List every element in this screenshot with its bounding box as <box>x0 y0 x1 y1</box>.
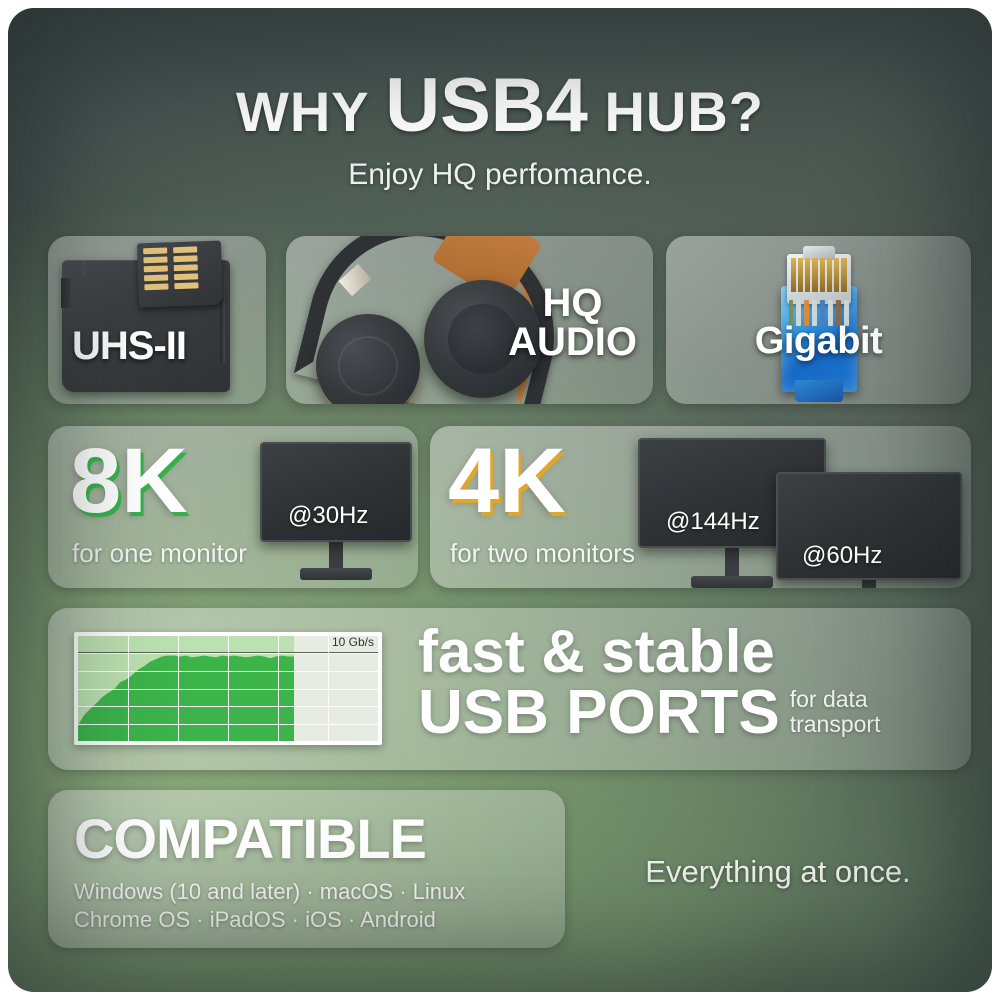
refresh-rate-60hz: @60Hz <box>802 542 882 570</box>
monitor-base <box>691 576 773 588</box>
compatible-os-line1: Windows (10 and later) · macOS · Linux <box>74 878 465 906</box>
monitor-neck <box>862 580 876 588</box>
title-prefix: WHY <box>236 80 385 143</box>
compatible-os-list: Windows (10 and later) · macOS · Linux C… <box>74 878 465 934</box>
headphone-earcup-rim <box>318 368 422 404</box>
hq-audio-line2: AUDIO <box>508 323 637 362</box>
sd-card-clip <box>61 278 71 308</box>
usb-note-line2: transport <box>790 711 881 737</box>
throughput-chart-plot: 10 Gb/s <box>78 636 378 741</box>
chart-gridline-h <box>78 706 378 707</box>
tagline: Everything at once. <box>598 854 958 890</box>
feature-card-usb-ports: 10 Gb/s fast & stable USB PORTSfor datat… <box>48 608 971 770</box>
usb-headline-line2: USB PORTS <box>418 682 780 744</box>
feature-card-gigabit: Gigabit <box>666 236 971 404</box>
header: WHY USB4 HUB? Enjoy HQ perfomance. <box>8 68 992 192</box>
feature-card-4k-display: 4K for two monitors @144Hz @60Hz <box>430 426 971 588</box>
microsd-contacts <box>143 246 198 290</box>
usb-headline-line1: fast & stable <box>418 622 880 682</box>
page-subtitle: Enjoy HQ perfomance. <box>8 158 992 192</box>
feature-card-hq-audio: HQ AUDIO <box>286 236 653 404</box>
chart-gridline-h <box>78 724 378 725</box>
feature-card-compatible: COMPATIBLE Windows (10 and later) · macO… <box>48 790 565 948</box>
title-highlight: USB4 <box>385 63 588 148</box>
compatible-os-line2: Chrome OS · iPadOS · iOS · Android <box>74 906 465 934</box>
title-suffix: HUB? <box>588 80 764 143</box>
resolution-caption-8k: for one monitor <box>72 538 247 569</box>
rj45-pins <box>791 258 847 292</box>
resolution-label-4k: 4K <box>448 440 566 523</box>
usb-note-line1: for data <box>790 686 868 712</box>
chart-gridline-h <box>78 689 378 690</box>
compatible-title: COMPATIBLE <box>74 806 426 871</box>
refresh-rate-8k: @30Hz <box>288 502 368 530</box>
monitor-neck <box>725 548 739 576</box>
feature-label-gigabit: Gigabit <box>666 320 971 363</box>
chart-gridline-h <box>78 653 378 654</box>
monitor-neck <box>329 542 343 568</box>
hq-audio-line1: HQ <box>508 284 637 323</box>
feature-label-hq-audio: HQ AUDIO <box>508 284 637 362</box>
feature-label-uhs-ii: UHS-II <box>72 324 186 369</box>
microsd-card-icon <box>137 241 223 308</box>
monitor-4k-secondary <box>776 472 962 588</box>
usb-ports-text: fast & stable USB PORTSfor datatransport <box>418 622 880 744</box>
feature-card-uhs-ii: UHS-II <box>48 236 266 404</box>
usb-note: for datatransport <box>790 687 881 745</box>
monitor-base <box>300 568 372 580</box>
infographic-poster: WHY USB4 HUB? Enjoy HQ perfomance. UHS-I… <box>8 8 992 992</box>
feature-card-8k-display: 8K for one monitor @30Hz <box>48 426 418 588</box>
chart-gridline-h <box>78 671 378 672</box>
throughput-chart: 10 Gb/s <box>74 632 382 745</box>
chart-threshold-label: 10 Gb/s <box>332 636 374 649</box>
resolution-label-8k: 8K <box>70 440 188 523</box>
page-title: WHY USB4 HUB? <box>8 68 992 144</box>
refresh-rate-144hz: @144Hz <box>666 508 760 536</box>
resolution-caption-4k: for two monitors <box>450 538 635 569</box>
